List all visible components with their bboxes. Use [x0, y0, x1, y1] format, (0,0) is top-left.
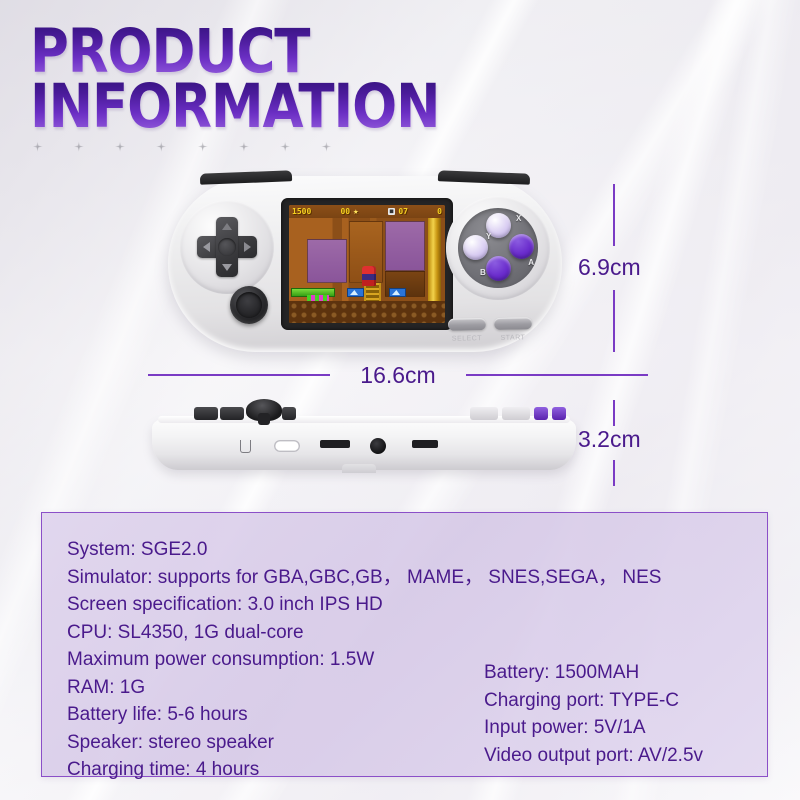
- spec-item: Screen specification: 3.0 inch IPS HD: [67, 591, 661, 619]
- headphone-jack-icon: [370, 438, 386, 454]
- screen-bezel: 1500 00 ★ ■ 07 0: [281, 198, 453, 330]
- page-title: PRODUCT INFORMATION: [30, 22, 416, 125]
- dimension-width: 16.6cm: [148, 362, 648, 388]
- diamond-sparkle-icon: [115, 141, 126, 152]
- game-item-block: [347, 288, 364, 297]
- side-analog-stick-icon: [246, 399, 282, 421]
- hud-coins: 00: [340, 207, 350, 216]
- side-button-r1: [470, 407, 498, 420]
- dpad-down-arrow-icon: [222, 264, 232, 271]
- dimension-line-segment: [613, 460, 615, 486]
- dimension-label-height: 6.9cm: [578, 254, 641, 281]
- dimension-thickness: 3.2cm: [560, 400, 710, 484]
- console-side-shell: [152, 418, 576, 470]
- dpad-right-arrow-icon: [244, 242, 251, 252]
- diamond-sparkle-icon: [156, 141, 167, 152]
- dpad-up-arrow-icon: [222, 223, 232, 230]
- dimension-line-segment: [613, 400, 615, 426]
- specifications-panel: System: SGE2.0 Simulator: supports for G…: [41, 512, 768, 777]
- side-shoulder-button-l3: [282, 407, 296, 420]
- button-b: [486, 256, 511, 281]
- spec-item: Input power: 5V/1A: [484, 714, 703, 742]
- menu-button-labels: SELECT START: [448, 334, 532, 342]
- spec-item: Battery: 1500MAH: [484, 659, 703, 687]
- spec-item: System: SGE2.0: [67, 536, 661, 564]
- reset-pinhole-icon: [240, 440, 251, 453]
- select-label: SELECT: [448, 335, 486, 343]
- specs-column-right: Battery: 1500MAH Charging port: TYPE-C I…: [484, 659, 703, 769]
- analog-stick-icon: [230, 286, 268, 324]
- side-shoulder-button-l1: [194, 407, 218, 420]
- dimension-line-segment: [613, 290, 615, 352]
- game-hud: 1500 00 ★ ■ 07 0: [289, 205, 445, 218]
- button-y: [463, 235, 488, 260]
- dimension-line-segment: [466, 374, 648, 376]
- star-icon: ★: [353, 207, 358, 217]
- hud-lives: 07: [398, 207, 408, 216]
- dimension-height: 6.9cm: [560, 182, 710, 354]
- diamond-sparkle-icon: [73, 141, 84, 152]
- dpad-center-hub: [218, 238, 236, 256]
- game-character-sprite: [362, 266, 376, 286]
- hud-timer: 0: [437, 207, 442, 216]
- diamond-sparkle-icon: [238, 141, 249, 152]
- button-a: [509, 234, 534, 259]
- dimension-label-thickness: 3.2cm: [578, 426, 641, 453]
- start-label: START: [494, 334, 532, 342]
- tf-card-slot-2-icon: [412, 440, 438, 448]
- game-item-block: [389, 288, 406, 297]
- face-buttons-recess: X Y A B: [446, 196, 550, 300]
- button-label-x: X: [516, 214, 521, 223]
- dimension-line-segment: [613, 184, 615, 246]
- spec-item: Charging port: TYPE-C: [484, 687, 703, 715]
- usb-c-port-icon: [274, 440, 300, 452]
- menu-buttons: [448, 317, 532, 330]
- dimension-label-width: 16.6cm: [360, 362, 435, 389]
- handheld-console-side-view: [152, 398, 576, 482]
- game-floor: [289, 301, 445, 323]
- game-tile: [385, 221, 425, 271]
- side-button-purple-1: [534, 407, 548, 420]
- face-buttons-pad: X Y A B: [458, 208, 538, 288]
- sparkle-decoration-row: [32, 141, 332, 152]
- game-tile: [307, 239, 347, 283]
- game-screen: 1500 00 ★ ■ 07 0: [289, 205, 445, 323]
- diamond-sparkle-icon: [197, 141, 208, 152]
- diamond-sparkle-icon: [321, 141, 332, 152]
- title-line-information: INFORMATION: [30, 77, 439, 136]
- start-button: [494, 317, 532, 330]
- side-button-r2: [502, 407, 530, 420]
- dimension-line-segment: [148, 374, 330, 376]
- diamond-sparkle-icon: [32, 141, 43, 152]
- dpad-icon: [197, 217, 257, 277]
- dpad-recess: [180, 200, 274, 294]
- spec-item: CPU: SL4350, 1G dual-core: [67, 619, 661, 647]
- console-bottom-notch: [342, 464, 376, 473]
- button-label-b: B: [480, 268, 486, 277]
- side-shoulder-button-l2: [220, 407, 244, 420]
- handheld-console-front-view: 1500 00 ★ ■ 07 0 X Y A B: [168, 176, 562, 352]
- tf-card-slot-icon: [320, 440, 350, 448]
- spec-item: Simulator: supports for GBA,GBC,GB， MAME…: [67, 564, 661, 592]
- select-button: [448, 318, 486, 331]
- button-label-y: Y: [486, 232, 491, 241]
- spec-item: Video output port: AV/2.5v: [484, 742, 703, 770]
- hud-score: 1500: [292, 207, 311, 216]
- diamond-sparkle-icon: [280, 141, 291, 152]
- hud-life-icon: ■: [388, 208, 396, 215]
- button-label-a: A: [528, 258, 534, 267]
- dpad-left-arrow-icon: [203, 242, 210, 252]
